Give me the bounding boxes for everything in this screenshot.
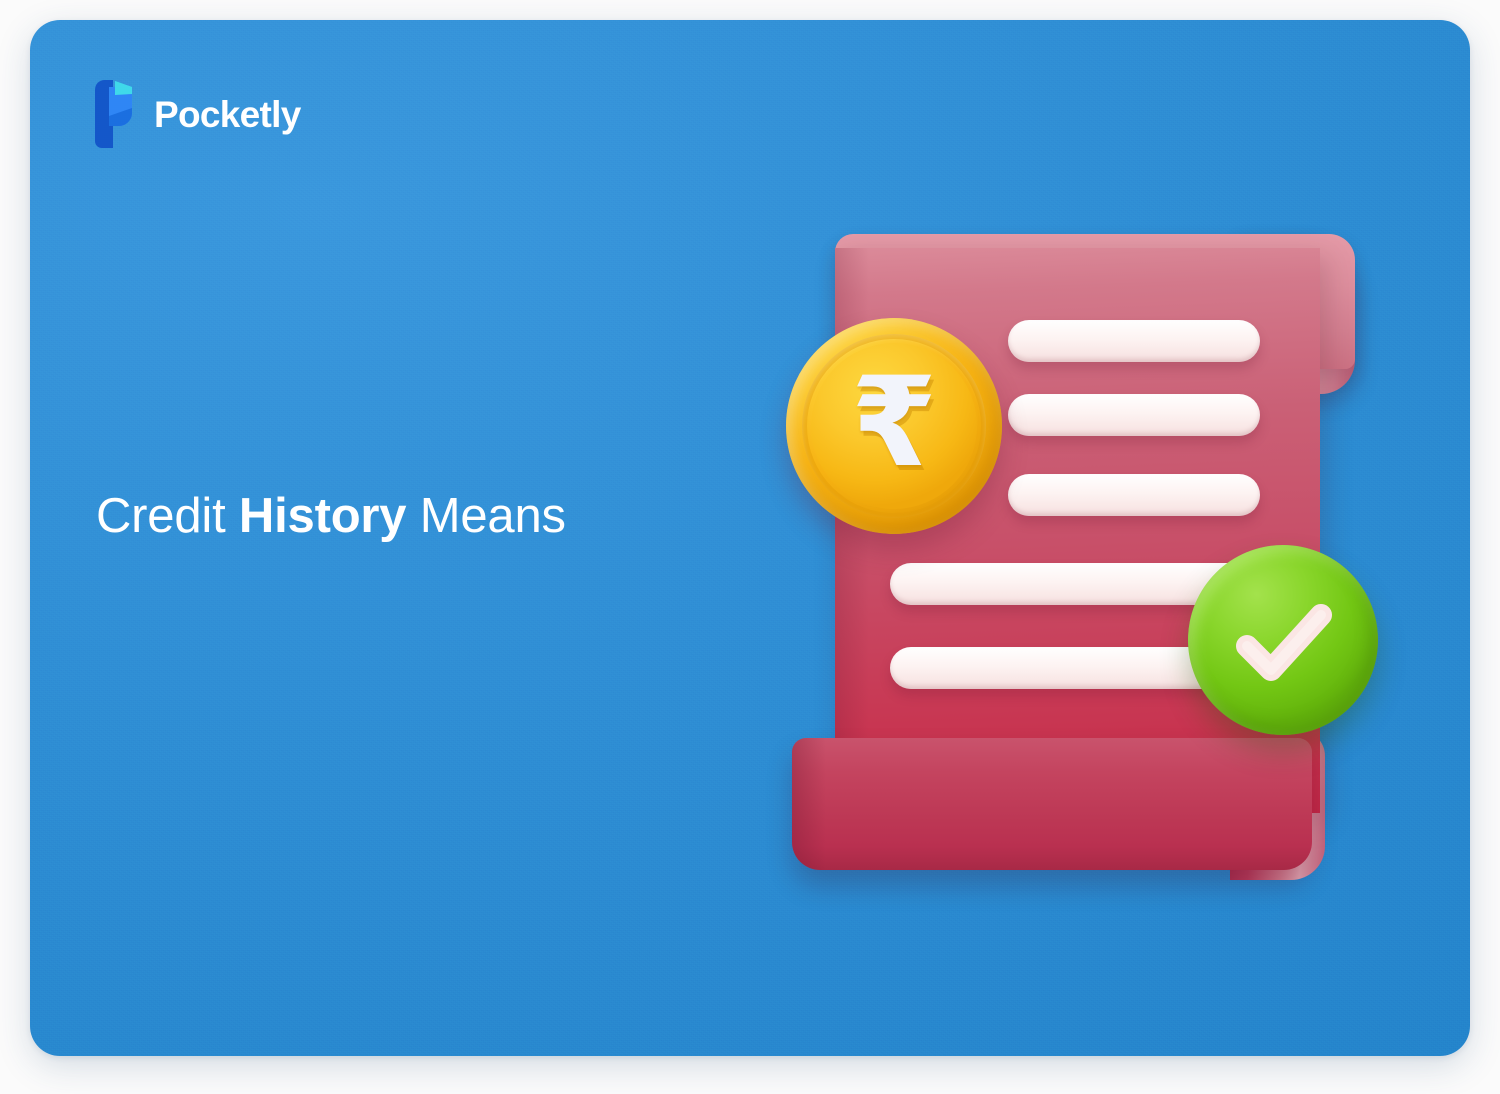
screenshot-stage: Pocketly Credit History Means: [0, 0, 1500, 1094]
promo-card: Pocketly Credit History Means: [30, 20, 1470, 1056]
brand-name-text: Pocketly: [154, 96, 301, 133]
page-title: Credit History Means: [96, 488, 736, 546]
headline-part-bold: History: [239, 489, 406, 543]
scroll-bottom-lip: [792, 738, 1312, 870]
headline-part-1: Credit: [96, 489, 239, 543]
document-line-1: [1008, 320, 1260, 362]
rupee-symbol: ₹: [851, 361, 937, 485]
credit-report-scroll-illustration: ₹: [750, 200, 1430, 920]
check-circle-icon: [1188, 545, 1378, 735]
brand-lockup[interactable]: Pocketly: [92, 78, 301, 150]
rupee-coin-icon: ₹: [786, 318, 1002, 534]
coin-face: ₹: [811, 343, 977, 509]
pocketly-p-logo-icon: [92, 78, 138, 150]
document-line-2: [1008, 394, 1260, 436]
headline-part-3: Means: [406, 489, 566, 543]
document-line-3: [1008, 474, 1260, 516]
